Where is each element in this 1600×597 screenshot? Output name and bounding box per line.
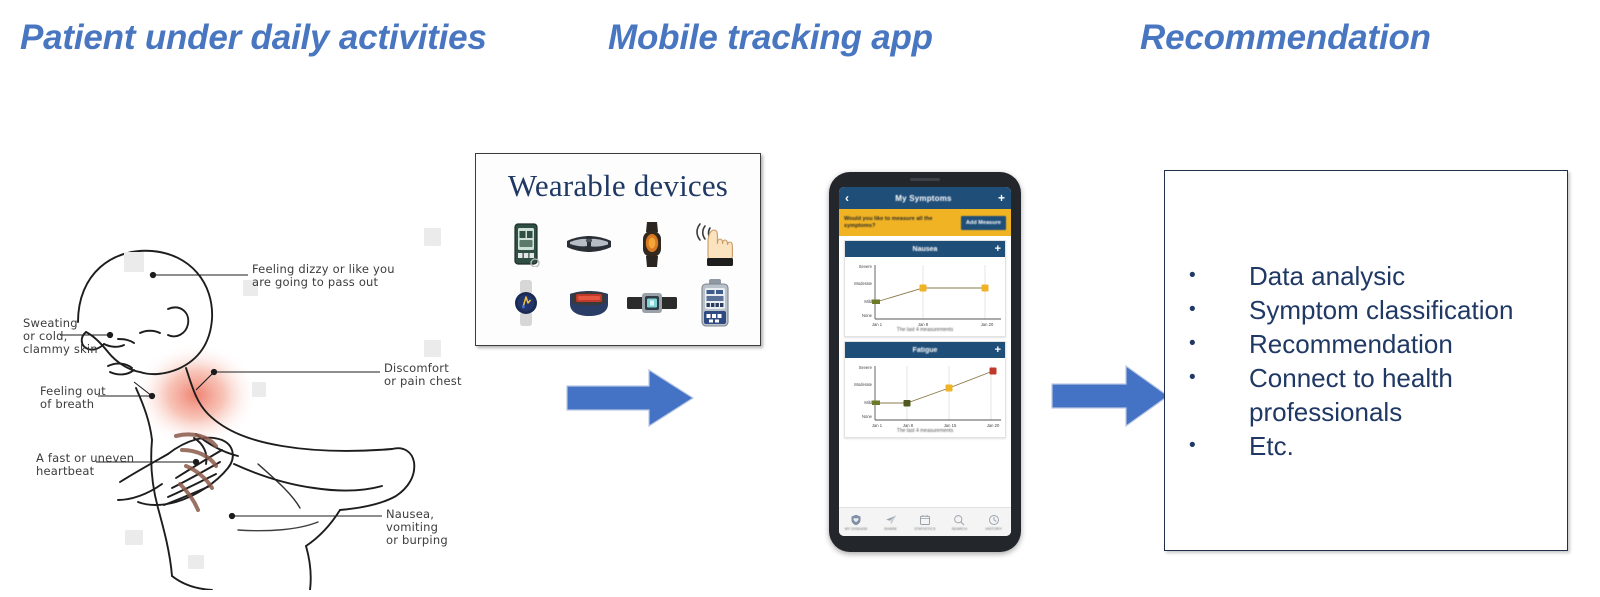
medical-monitor-icon bbox=[688, 276, 742, 330]
tab-label: SEARCH bbox=[952, 527, 968, 531]
tab-label: HISTORY bbox=[985, 527, 1002, 531]
measure-banner-text: Would you like to measure all the sympto… bbox=[844, 216, 938, 230]
chevron-left-icon[interactable]: ‹ bbox=[845, 192, 849, 204]
list-item: • Recommendation bbox=[1189, 327, 1539, 361]
clock-icon bbox=[988, 514, 1000, 526]
list-item: • Etc. bbox=[1189, 429, 1539, 463]
symptom-label-breath: Feeling out of breath bbox=[40, 385, 106, 411]
tab-label: SHARE bbox=[884, 527, 897, 531]
plus-icon[interactable]: + bbox=[995, 345, 1001, 356]
symptom-card-caption: The last 4 measurements bbox=[845, 327, 1005, 336]
symptom-chart-nausea: Severe Moderate Mild None Jan 1 Jan 8 Ja… bbox=[845, 257, 1005, 331]
smart-glasses-icon bbox=[562, 218, 616, 272]
search-icon bbox=[953, 514, 965, 526]
plus-icon[interactable]: + bbox=[995, 244, 1001, 255]
shield-heart-icon bbox=[850, 514, 862, 526]
artifact-block bbox=[188, 555, 204, 569]
round-smartwatch-icon bbox=[499, 276, 553, 330]
symptom-card-title: Fatigue bbox=[913, 347, 938, 354]
heading-recommendation: Recommendation bbox=[1140, 18, 1431, 58]
list-item-label: Connect to health professionals bbox=[1249, 361, 1539, 429]
svg-text:Moderate: Moderate bbox=[854, 281, 872, 286]
chest-strap-icon bbox=[562, 276, 616, 330]
recommendation-box: • Data analysic • Symptom classification… bbox=[1164, 170, 1568, 551]
svg-text:Severe: Severe bbox=[859, 264, 873, 269]
bullet-glyph: • bbox=[1189, 327, 1249, 361]
phone-speaker bbox=[910, 178, 940, 181]
bottom-tab-bar: MY DISEASE SHARE STA bbox=[839, 507, 1011, 536]
list-item: • Data analysic bbox=[1189, 259, 1539, 293]
list-item-label: Symptom classification bbox=[1249, 293, 1513, 327]
bullet-glyph: • bbox=[1189, 429, 1249, 463]
tab-share[interactable]: SHARE bbox=[873, 514, 907, 531]
list-item: • Symptom classification bbox=[1189, 293, 1539, 327]
arrow-patient-to-app bbox=[565, 367, 695, 429]
bullet-glyph: • bbox=[1189, 293, 1249, 327]
bullet-glyph: • bbox=[1189, 259, 1249, 293]
heading-patient: Patient under daily activities bbox=[20, 18, 487, 58]
symptom-card-header: Fatigue + bbox=[845, 342, 1005, 358]
calendar-icon bbox=[919, 514, 931, 526]
chart-svg: Severe Moderate Mild None Jan 1 Jan 8 Ja… bbox=[845, 257, 1005, 331]
patient-illustration: Feeling dizzy or like you are going to p… bbox=[0, 200, 470, 590]
slide-canvas: Patient under daily activities Mobile tr… bbox=[0, 0, 1600, 597]
measure-banner: Would you like to measure all the sympto… bbox=[839, 209, 1011, 236]
svg-text:None: None bbox=[862, 414, 873, 419]
mobile-phone-mockup: ‹ My Symptoms + Would you like to measur… bbox=[829, 172, 1021, 552]
svg-text:None: None bbox=[862, 313, 873, 318]
svg-text:Mild: Mild bbox=[864, 400, 872, 405]
symptom-card-title: Nausea bbox=[913, 246, 938, 253]
symptom-label-dizzy: Feeling dizzy or like you are going to p… bbox=[252, 263, 395, 289]
wearable-devices-box: Wearable devices bbox=[475, 153, 761, 346]
fitness-band-icon bbox=[625, 218, 679, 272]
symptom-card-fatigue[interactable]: Fatigue + bbox=[844, 341, 1006, 438]
gesture-wristband-icon bbox=[688, 218, 742, 272]
phone-screen: ‹ My Symptoms + Would you like to measur… bbox=[839, 187, 1011, 536]
symptom-card-caption: The last 4 measurements bbox=[845, 428, 1005, 437]
symptom-label-sweating: Sweating or cold, clammy skin bbox=[23, 317, 98, 356]
tab-label: STATISTICS bbox=[914, 527, 935, 531]
symptom-card-header: Nausea + bbox=[845, 241, 1005, 257]
artifact-block bbox=[124, 252, 144, 272]
plus-icon[interactable]: + bbox=[998, 192, 1005, 204]
symptom-chart-fatigue: Severe Moderate Mild None Jan 1 Jan 8 Ja… bbox=[845, 358, 1005, 432]
recommendation-list: • Data analysic • Symptom classification… bbox=[1189, 259, 1539, 463]
svg-text:Mild: Mild bbox=[864, 299, 872, 304]
symptom-label-discomfort: Discomfort or pain chest bbox=[384, 362, 462, 388]
list-item-label: Etc. bbox=[1249, 429, 1294, 463]
heading-mobile-tracking-app: Mobile tracking app bbox=[608, 18, 933, 58]
list-item-label: Recommendation bbox=[1249, 327, 1453, 361]
wearable-devices-title: Wearable devices bbox=[476, 168, 760, 204]
list-item: • Connect to health professionals bbox=[1189, 361, 1539, 429]
square-smartwatch-icon bbox=[625, 276, 679, 330]
app-header: ‹ My Symptoms + bbox=[839, 187, 1011, 209]
artifact-block bbox=[125, 530, 143, 545]
tab-statistics[interactable]: STATISTICS bbox=[908, 514, 942, 531]
list-item-label: Data analysic bbox=[1249, 259, 1405, 293]
artifact-block bbox=[424, 340, 441, 357]
wearable-device-grid bbox=[494, 216, 746, 332]
tab-my-disease[interactable]: MY DISEASE bbox=[839, 514, 873, 531]
add-measure-button[interactable]: Add Measure bbox=[961, 216, 1006, 230]
artifact-block bbox=[424, 228, 441, 246]
app-header-title: My Symptoms bbox=[895, 194, 951, 203]
arrow-app-to-recommendation bbox=[1050, 362, 1170, 430]
tab-history[interactable]: HISTORY bbox=[977, 514, 1011, 531]
paper-plane-icon bbox=[885, 514, 897, 526]
symptom-card-nausea[interactable]: Nausea + bbox=[844, 240, 1006, 337]
artifact-block bbox=[252, 382, 266, 397]
tab-label: MY DISEASE bbox=[845, 527, 868, 531]
symptom-label-heartbeat: A fast or uneven heartbeat bbox=[36, 452, 134, 478]
svg-text:Moderate: Moderate bbox=[854, 382, 872, 387]
svg-text:Severe: Severe bbox=[859, 365, 873, 370]
symptom-label-nausea: Nausea, vomiting or burping bbox=[386, 508, 448, 547]
bullet-glyph: • bbox=[1189, 361, 1249, 395]
pedometer-tracker-icon bbox=[499, 218, 553, 272]
tab-search[interactable]: SEARCH bbox=[942, 514, 976, 531]
chart-svg: Severe Moderate Mild None Jan 1 Jan 8 Ja… bbox=[845, 358, 1005, 432]
